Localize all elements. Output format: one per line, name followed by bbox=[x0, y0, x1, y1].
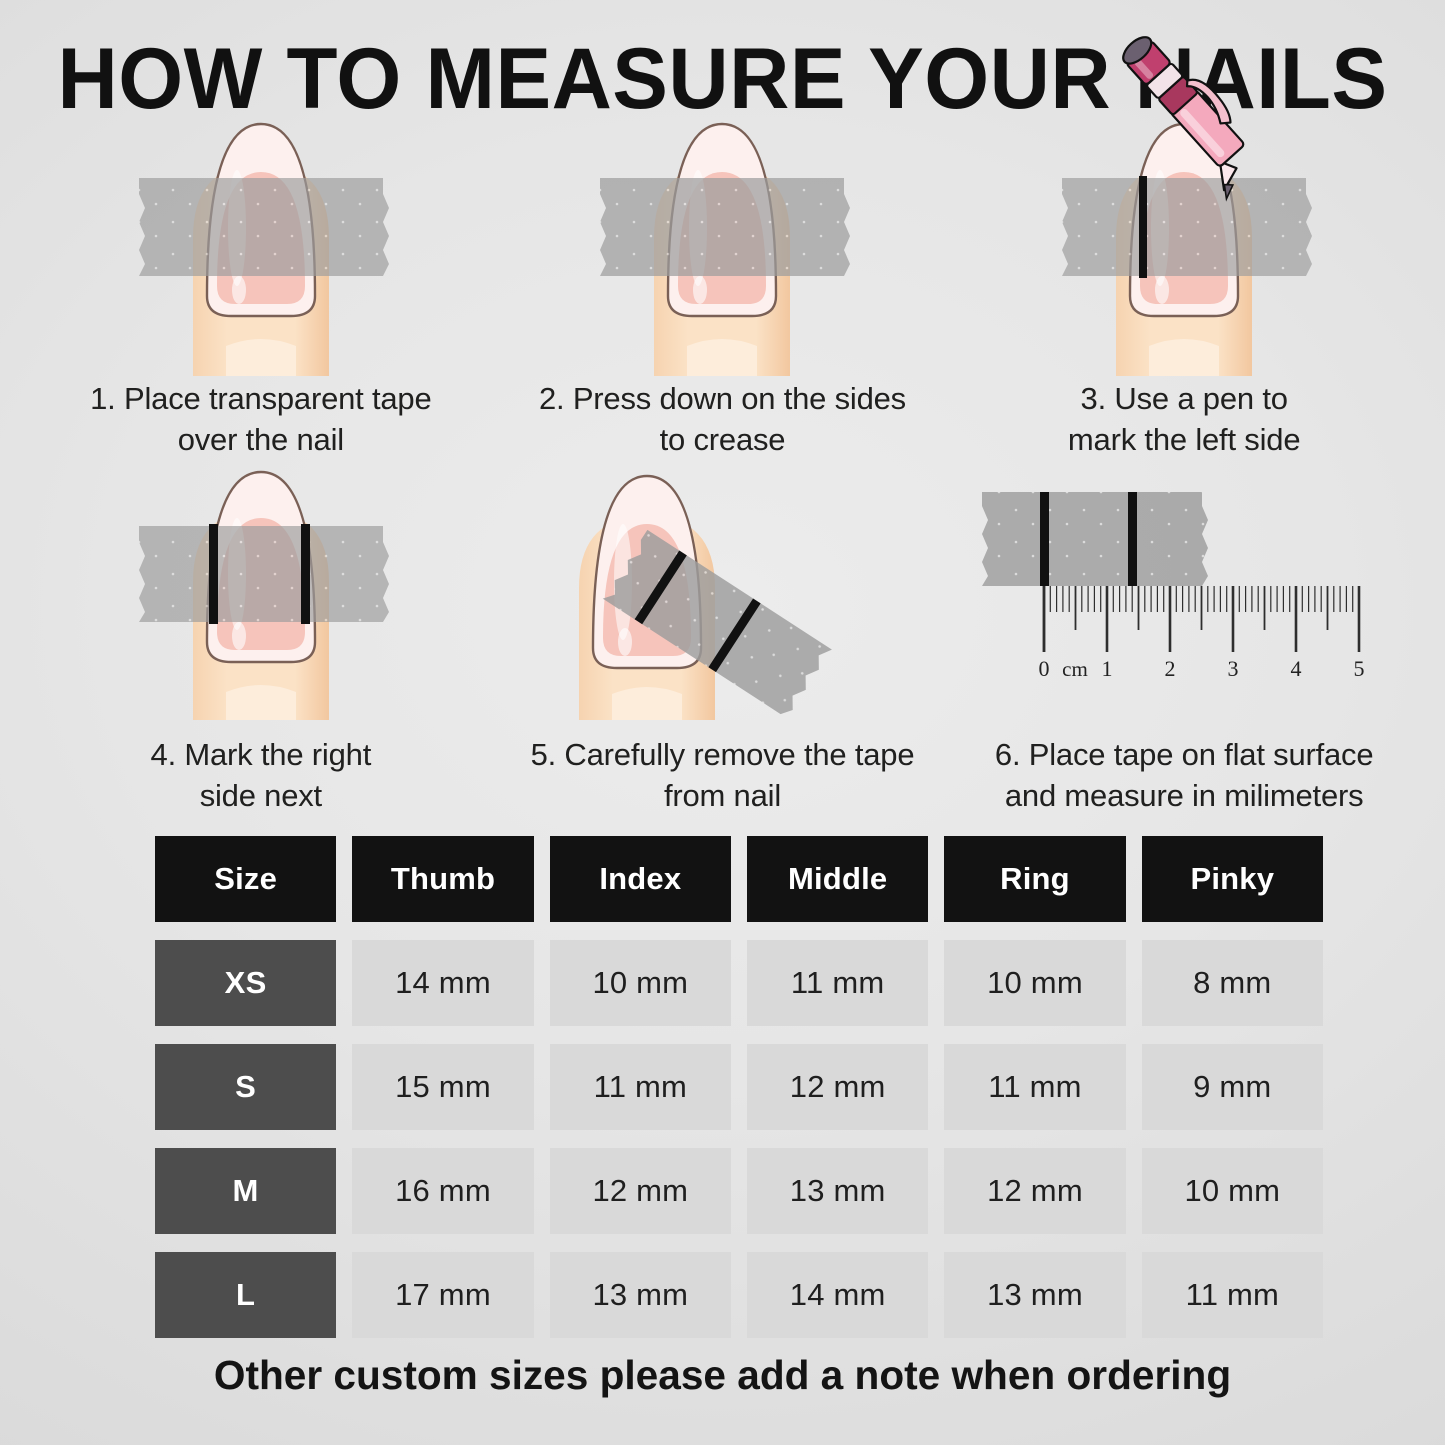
step-6-caption: 6. Place tape on flat surface and measur… bbox=[984, 734, 1384, 816]
table-size-label: L bbox=[155, 1252, 336, 1338]
table-size-label: XS bbox=[155, 940, 336, 1026]
footer-note: Other custom sizes please add a note whe… bbox=[7, 1352, 1438, 1399]
left-pen-mark bbox=[1139, 176, 1147, 278]
svg-text:cm: cm bbox=[1062, 657, 1088, 681]
step-4-illustration bbox=[30, 470, 492, 728]
table-cell: 17 mm bbox=[352, 1252, 533, 1338]
table-cell: 8 mm bbox=[1142, 940, 1323, 1026]
left-pen-mark bbox=[1040, 492, 1049, 586]
step-4: 4. Mark the right side next bbox=[30, 470, 492, 822]
step-2-caption: 2. Press down on the sides to crease bbox=[522, 378, 922, 460]
step-6: 0 1 2 3 4 5 cm 6. Place tape on flat sur… bbox=[953, 470, 1415, 822]
table-header-thumb: Thumb bbox=[352, 836, 533, 922]
table-cell: 11 mm bbox=[747, 940, 928, 1026]
table-header-size: Size bbox=[155, 836, 336, 922]
step-5-illustration bbox=[492, 470, 954, 728]
svg-text:2: 2 bbox=[1165, 656, 1176, 681]
svg-text:0: 0 bbox=[1039, 656, 1050, 681]
steps-grid: 1. Place transparent tape over the nail … bbox=[30, 118, 1415, 822]
step-4-caption: 4. Mark the right side next bbox=[61, 734, 461, 816]
table-cell: 13 mm bbox=[747, 1148, 928, 1234]
step-2: 2. Press down on the sides to crease bbox=[492, 118, 954, 470]
table-header-pinky: Pinky bbox=[1142, 836, 1323, 922]
step-5: 5. Carefully remove the tape from nail bbox=[492, 470, 954, 822]
step-3: 3. Use a pen to mark the left side bbox=[953, 118, 1415, 470]
tape-on-ruler-icon: 0 1 2 3 4 5 cm bbox=[974, 470, 1394, 700]
table-cell: 14 mm bbox=[352, 940, 533, 1026]
table-cell: 11 mm bbox=[550, 1044, 731, 1130]
step-3-illustration bbox=[953, 118, 1415, 376]
table-cell: 12 mm bbox=[550, 1148, 731, 1234]
finger-with-creased-tape-icon bbox=[592, 118, 852, 376]
table-cell: 14 mm bbox=[747, 1252, 928, 1338]
table-header-middle: Middle bbox=[747, 836, 928, 922]
size-chart-table: SizeThumbIndexMiddleRingPinkyXS14 mm10 m… bbox=[155, 836, 1323, 1338]
table-size-label: M bbox=[155, 1148, 336, 1234]
svg-text:5: 5 bbox=[1354, 656, 1365, 681]
right-pen-mark bbox=[1128, 492, 1137, 586]
step-5-caption: 5. Carefully remove the tape from nail bbox=[522, 734, 922, 816]
table-header-ring: Ring bbox=[944, 836, 1125, 922]
step-6-illustration: 0 1 2 3 4 5 cm bbox=[953, 470, 1415, 728]
table-cell: 13 mm bbox=[944, 1252, 1125, 1338]
step-1: 1. Place transparent tape over the nail bbox=[30, 118, 492, 470]
table-size-label: S bbox=[155, 1044, 336, 1130]
table-cell: 13 mm bbox=[550, 1252, 731, 1338]
ruler-labels: 0 1 2 3 4 5 cm bbox=[1039, 656, 1365, 681]
svg-text:3: 3 bbox=[1228, 656, 1239, 681]
table-cell: 10 mm bbox=[1142, 1148, 1323, 1234]
ruler-scale bbox=[1044, 586, 1360, 652]
table-cell: 12 mm bbox=[747, 1044, 928, 1130]
finger-tape-two-marks-icon bbox=[131, 470, 391, 720]
table-cell: 9 mm bbox=[1142, 1044, 1323, 1130]
step-1-caption: 1. Place transparent tape over the nail bbox=[61, 378, 461, 460]
svg-text:1: 1 bbox=[1102, 656, 1113, 681]
table-cell: 10 mm bbox=[550, 940, 731, 1026]
step-3-caption: 3. Use a pen to mark the left side bbox=[984, 378, 1384, 460]
table-header-index: Index bbox=[550, 836, 731, 922]
table-cell: 16 mm bbox=[352, 1148, 533, 1234]
table-cell: 12 mm bbox=[944, 1148, 1125, 1234]
finger-tape-removed-icon bbox=[557, 470, 887, 720]
table-cell: 11 mm bbox=[1142, 1252, 1323, 1338]
svg-text:4: 4 bbox=[1291, 656, 1302, 681]
table-cell: 11 mm bbox=[944, 1044, 1125, 1130]
finger-tape-pen-icon bbox=[1034, 118, 1334, 376]
left-pen-mark bbox=[209, 524, 218, 624]
table-cell: 15 mm bbox=[352, 1044, 533, 1130]
table-cell: 10 mm bbox=[944, 940, 1125, 1026]
step-2-illustration bbox=[492, 118, 954, 376]
step-1-illustration bbox=[30, 118, 492, 376]
finger-with-tape-icon bbox=[131, 118, 391, 376]
right-pen-mark bbox=[301, 524, 310, 624]
